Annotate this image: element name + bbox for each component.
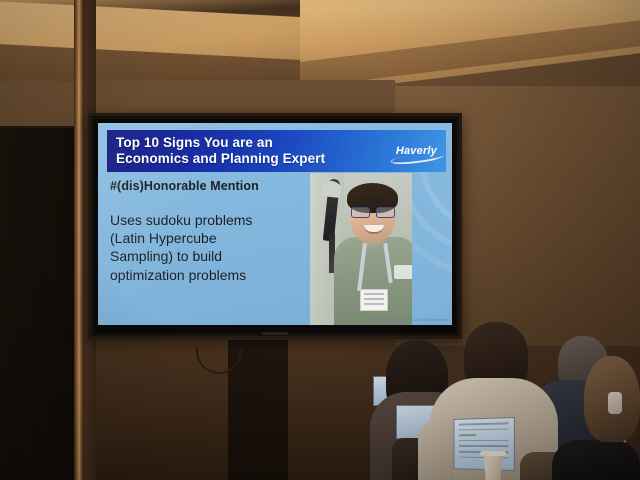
laptop-spreadsheet bbox=[454, 417, 515, 471]
display-indicator bbox=[262, 332, 288, 335]
slide-title: Top 10 Signs You are an Economics and Pl… bbox=[116, 135, 325, 167]
attendee-center-arm bbox=[418, 420, 454, 480]
dark-pillar-left bbox=[0, 128, 77, 480]
photo-name-badge bbox=[360, 289, 388, 311]
slide-copyright: © Haverly Systems 2023. All Rights Reser… bbox=[370, 318, 447, 322]
coffee-cup-rim bbox=[480, 451, 506, 456]
hair-clip bbox=[608, 392, 622, 414]
slide-body-text: Uses sudoku problems (Latin Hypercube Sa… bbox=[110, 211, 305, 284]
conference-room-scene: Top 10 Signs You are an Economics and Pl… bbox=[0, 0, 640, 480]
speaker-photo bbox=[310, 173, 412, 325]
attendee-front-right-body bbox=[552, 440, 640, 480]
coffee-cup bbox=[482, 452, 504, 480]
presentation-display[interactable]: Top 10 Signs You are an Economics and Pl… bbox=[88, 113, 462, 339]
haverly-logo: Haverly bbox=[396, 145, 439, 157]
column-lit-edge bbox=[74, 0, 84, 480]
slide-subtitle: #(dis)Honorable Mention bbox=[110, 179, 310, 193]
display-panel: Top 10 Signs You are an Economics and Pl… bbox=[94, 119, 456, 333]
presentation-slide: Top 10 Signs You are an Economics and Pl… bbox=[98, 123, 452, 325]
slide-header-band: Top 10 Signs You are an Economics and Pl… bbox=[107, 130, 446, 172]
glasses-icon bbox=[351, 207, 395, 216]
logo-text: Haverly bbox=[396, 145, 437, 157]
photo-shirt-logo bbox=[394, 265, 412, 279]
